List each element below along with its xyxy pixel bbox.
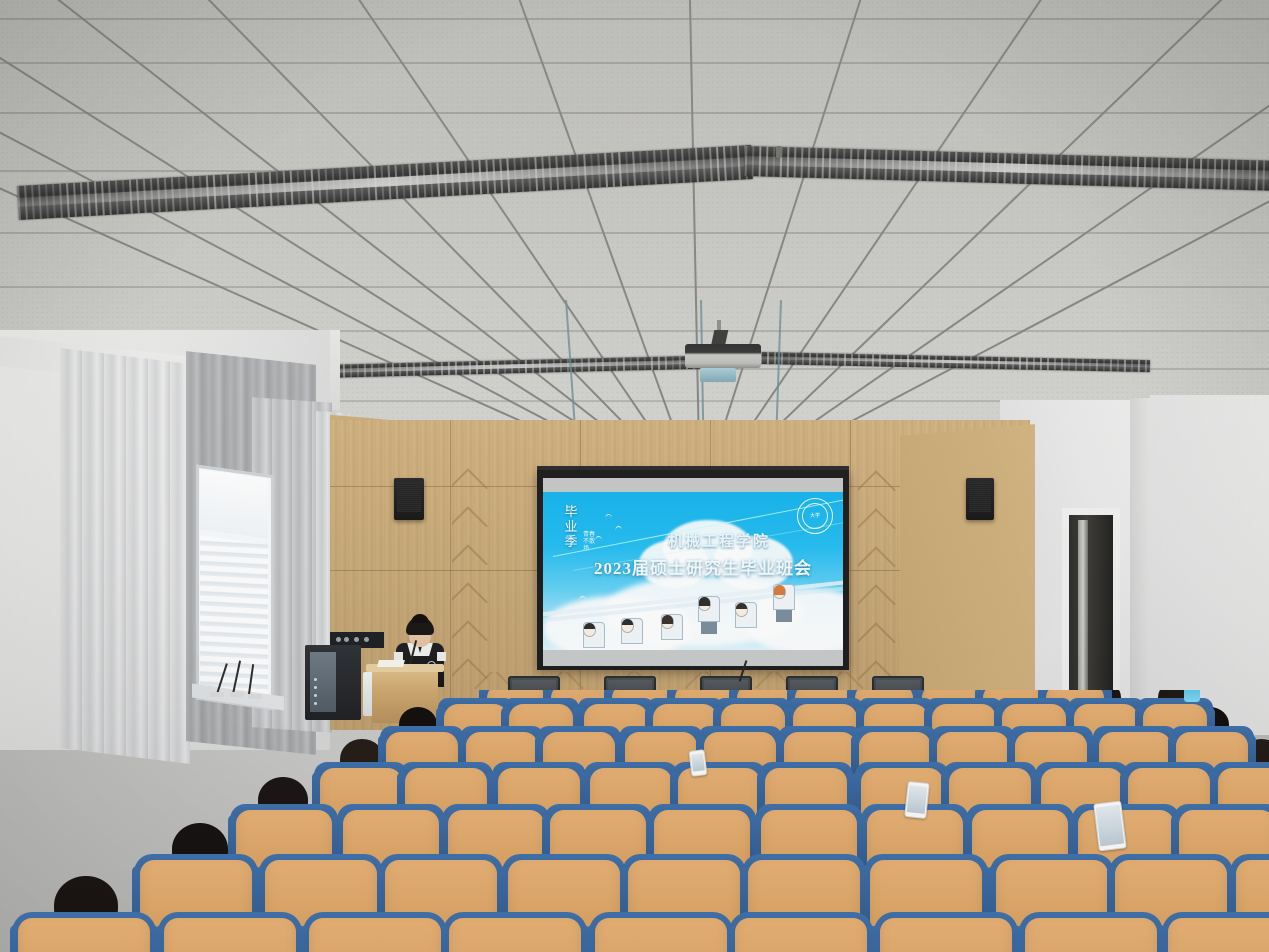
- presenter-sleeve: [437, 652, 446, 661]
- slide-content: 毕业季 青春不散场 机械工程学院 2023届硕士研究生毕业班会 大学: [543, 492, 843, 650]
- auditorium-seat: [309, 918, 441, 952]
- projector-lens: [700, 368, 736, 382]
- window-blind: [200, 535, 268, 695]
- water-bottle-icon: [1184, 690, 1200, 702]
- auditorium-seat: [18, 918, 150, 952]
- auditorium-photo: 毕业季 青春不散场 机械工程学院 2023届硕士研究生毕业班会 大学: [0, 0, 1269, 952]
- auditorium-seat: [449, 918, 581, 952]
- ceiling-grid-line: [0, 112, 1269, 114]
- slide-figure: [661, 615, 683, 640]
- slide-figure: [621, 619, 643, 644]
- seat-back: [880, 918, 1012, 952]
- projector-icon: [685, 344, 761, 368]
- smartphone-icon: [904, 781, 930, 819]
- ceiling-grid-line: [0, 286, 1269, 288]
- ceiling-grid-line: [0, 18, 1269, 20]
- slide-calligraphy: 毕业季: [559, 504, 583, 549]
- seat-back: [1168, 918, 1269, 952]
- ceiling-grid-line: [0, 232, 1269, 234]
- audience-seating: [0, 690, 1269, 952]
- slide-calligraphy-small: 青春不散场: [583, 532, 597, 553]
- seat-back: [449, 918, 581, 952]
- smartphone-icon: [1093, 800, 1127, 851]
- slide-figure: [735, 603, 757, 628]
- podium-paper: [377, 660, 405, 667]
- auditorium-seat: [1168, 918, 1269, 952]
- auditorium-seat: [735, 918, 867, 952]
- seat-back: [309, 918, 441, 952]
- seat-back: [164, 918, 296, 952]
- auditorium-seat: [595, 918, 727, 952]
- ceiling-grid-line: [0, 62, 1269, 64]
- slide-title: 机械工程学院: [629, 530, 809, 551]
- wall-right-column: [1150, 395, 1269, 735]
- university-emblem-icon: 大学: [797, 498, 833, 534]
- acoustic-zigzag-right: [858, 470, 898, 700]
- auditorium-seat: [1025, 918, 1157, 952]
- wall-speaker-right: [966, 478, 994, 520]
- smartphone-icon: [688, 749, 707, 777]
- slide-figure: [583, 623, 605, 648]
- slide-figure: [698, 597, 720, 634]
- seat-back: [595, 918, 727, 952]
- wall-speaker-left: [394, 478, 424, 520]
- slide-subtitle: 2023届硕士研究生毕业班会: [573, 554, 833, 579]
- auditorium-seat: [164, 918, 296, 952]
- seat-back: [735, 918, 867, 952]
- auditorium-seat: [880, 918, 1012, 952]
- emblem-inner-text: 大学: [802, 503, 828, 529]
- slide-figure: [773, 585, 795, 622]
- screen-blank-area: [543, 478, 843, 492]
- sprinkler-head-icon: [776, 146, 782, 158]
- seat-back: [18, 918, 150, 952]
- screen-blank-area: [543, 650, 843, 666]
- window-glass: [200, 469, 268, 539]
- seat-back: [1025, 918, 1157, 952]
